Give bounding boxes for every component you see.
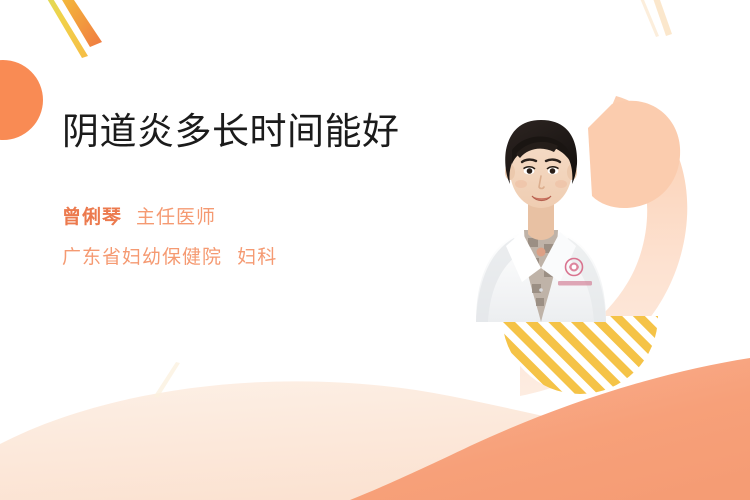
page-title: 阴道炎多长时间能好 <box>62 108 422 156</box>
text-content: 阴道炎多长时间能好 曾俐琴 主任医师 广东省妇幼保健院 妇科 <box>62 108 422 269</box>
doctor-title: 主任医师 <box>136 202 216 229</box>
doctor-line: 曾俐琴 主任医师 <box>62 202 422 229</box>
bottom-wave-light <box>0 381 750 500</box>
orange-circle-icon <box>0 60 43 140</box>
hospital-line: 广东省妇幼保健院 妇科 <box>62 242 422 269</box>
department-name: 妇科 <box>237 247 277 268</box>
doctor-name: 曾俐琴 <box>62 202 122 229</box>
diagonal-stripes-top-right-icon <box>634 0 672 37</box>
eye-right <box>550 168 556 174</box>
neck <box>528 204 554 240</box>
diagonal-stripes-top-left-icon <box>36 0 102 58</box>
doctor-portrait <box>452 92 630 322</box>
doctor-info-card: 阴道炎多长时间能好 曾俐琴 主任医师 广东省妇幼保健院 妇科 <box>0 0 750 500</box>
bottom-wave-coral <box>350 358 750 500</box>
cream-stripe-icon <box>154 362 180 398</box>
hospital-name: 广东省妇幼保健院 <box>62 247 222 268</box>
eye-left <box>527 168 533 174</box>
